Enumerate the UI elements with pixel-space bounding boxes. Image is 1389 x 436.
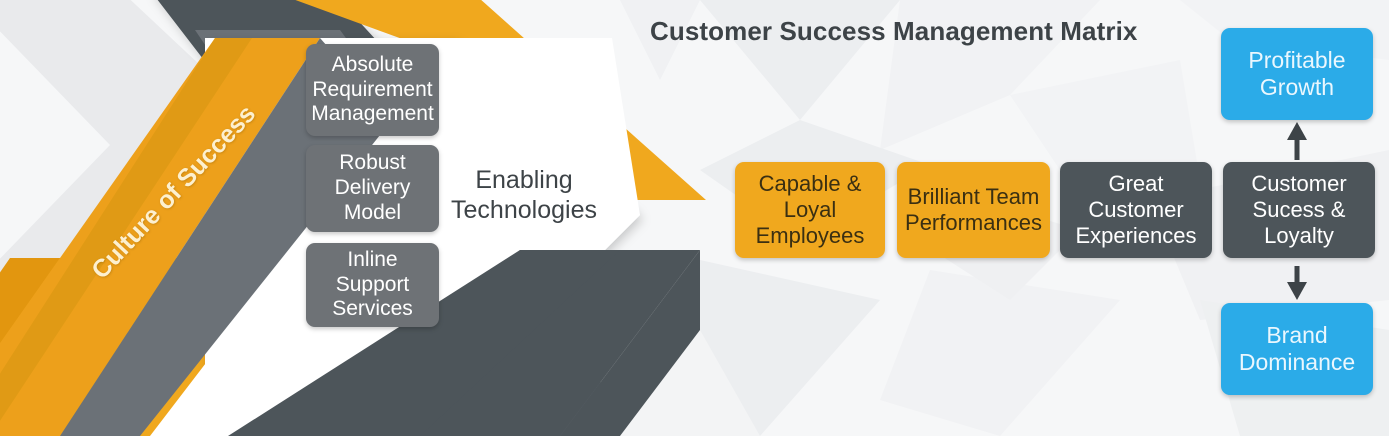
enabling-technologies-label: Enabling Technologies <box>444 165 604 225</box>
enabling-technologies-text: Enabling Technologies <box>451 166 597 224</box>
page-title: Customer Success Management Matrix <box>650 16 1137 47</box>
enabler-box-inline-support-services[interactable]: Inline Support Services <box>306 243 439 327</box>
enabler-box-label: Robust Delivery Model <box>312 151 433 225</box>
outcome-box-label: Brand Dominance <box>1227 322 1367 376</box>
enabler-box-absolute-requirement-management[interactable]: Absolute Requirement Management <box>306 44 439 136</box>
chain-box-label: Great Customer Experiences <box>1066 171 1206 249</box>
chain-box-label: Capable & Loyal Employees <box>741 171 879 249</box>
diagram-canvas: Customer Success Management Matrix Cultu… <box>0 0 1389 436</box>
arrow-down-icon <box>1287 266 1307 300</box>
chain-box-great-customer-experiences[interactable]: Great Customer Experiences <box>1060 162 1212 258</box>
chain-box-brilliant-team-performances[interactable]: Brilliant Team Performances <box>897 162 1050 258</box>
chain-box-label: Brilliant Team Performances <box>903 184 1044 236</box>
enabler-box-label: Absolute Requirement Management <box>311 53 434 127</box>
chain-box-capable-loyal-employees[interactable]: Capable & Loyal Employees <box>735 162 885 258</box>
enabler-box-robust-delivery-model[interactable]: Robust Delivery Model <box>306 145 439 232</box>
chain-box-label: Customer Sucess & Loyalty <box>1229 171 1369 249</box>
outcome-box-profitable-growth[interactable]: Profitable Growth <box>1221 28 1373 120</box>
chain-box-customer-success-loyalty[interactable]: Customer Sucess & Loyalty <box>1223 162 1375 258</box>
outcome-box-brand-dominance[interactable]: Brand Dominance <box>1221 303 1373 395</box>
outcome-box-label: Profitable Growth <box>1227 47 1367 101</box>
enabler-box-label: Inline Support Services <box>312 248 433 322</box>
arrow-up-icon <box>1287 122 1307 160</box>
